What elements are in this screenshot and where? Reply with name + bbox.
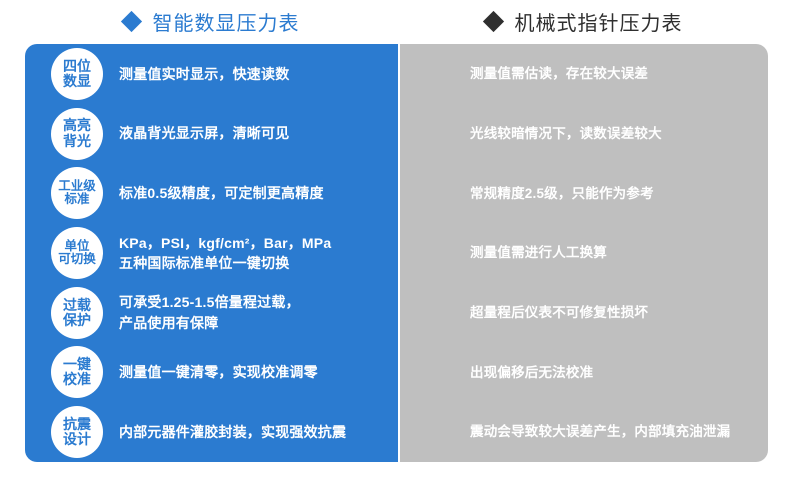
- feature-text: 测量值一键清零，实现校准调零: [119, 362, 318, 382]
- feature-badge: 单位 可切换: [51, 227, 103, 279]
- list-item: 测量值需估读，存在较大误差: [400, 44, 768, 104]
- badge-line-1: 单位: [64, 240, 89, 254]
- feature-text: 测量值实时显示，快速读数: [119, 64, 289, 84]
- list-item: 常规精度2.5级，只能作为参考: [400, 163, 768, 223]
- feature-badge: 高亮 背光: [51, 108, 103, 160]
- badge-line-2: 设计: [63, 432, 91, 447]
- badge-line-1: 高亮: [63, 118, 91, 133]
- header-right-title: 机械式指针压力表: [515, 7, 683, 36]
- left-feature-list: 四位 数显 测量值实时显示，快速读数 高亮 背光 液晶背光显示屏，清晰可见 工业…: [25, 44, 398, 462]
- drawback-text: 出现偏移后无法校准: [470, 363, 593, 383]
- headers-bar: 智能数显压力表 机械式指针压力表: [0, 0, 790, 42]
- diamond-icon: [120, 10, 141, 31]
- feature-text: 可承受1.25-1.5倍量程过载， 产品使用有保障: [119, 292, 300, 333]
- header-left-title: 智能数显压力表: [153, 7, 300, 36]
- list-item: 光线较暗情况下，读数误差较大: [400, 104, 768, 164]
- badge-line-1: 过载: [63, 298, 91, 313]
- feature-text-line-1: 测量值一键清零，实现校准调零: [119, 364, 318, 380]
- feature-badge: 抗震 设计: [51, 406, 103, 458]
- badge-line-2: 背光: [63, 134, 91, 149]
- list-item: 一键 校准 测量值一键清零，实现校准调零: [25, 343, 398, 403]
- list-item: 四位 数显 测量值实时显示，快速读数: [25, 44, 398, 104]
- feature-text-line-1: 测量值实时显示，快速读数: [119, 66, 289, 82]
- feature-badge: 过载 保护: [51, 287, 103, 339]
- header-left: 智能数显压力表: [25, 0, 398, 42]
- drawback-text: 测量值需进行人工换算: [470, 243, 607, 263]
- list-item: 测量值需进行人工换算: [400, 223, 768, 283]
- feature-text: 内部元器件灌胶封装，实现强效抗震: [119, 422, 346, 442]
- feature-text-line-1: 液晶背光显示屏，清晰可见: [119, 125, 289, 141]
- list-item: 超量程后仪表不可修复性损坏: [400, 283, 768, 343]
- list-item: 高亮 背光 液晶背光显示屏，清晰可见: [25, 104, 398, 164]
- list-item: 单位 可切换 KPa，PSI，kgf/cm²，Bar，MPa 五种国际标准单位一…: [25, 223, 398, 283]
- drawback-text: 震动会导致较大误差产生，内部填充油泄漏: [470, 422, 730, 442]
- list-item: 过载 保护 可承受1.25-1.5倍量程过载， 产品使用有保障: [25, 283, 398, 343]
- feature-text: KPa，PSI，kgf/cm²，Bar，MPa 五种国际标准单位一键切换: [119, 233, 331, 274]
- list-item: 震动会导致较大误差产生，内部填充油泄漏: [400, 402, 768, 462]
- badge-line-2: 数显: [63, 74, 91, 89]
- drawback-text: 超量程后仪表不可修复性损坏: [470, 303, 648, 323]
- drawback-text: 测量值需估读，存在较大误差: [470, 64, 648, 84]
- badge-line-2: 保护: [63, 313, 91, 328]
- diamond-icon: [482, 10, 503, 31]
- badge-line-1: 四位: [63, 59, 91, 74]
- feature-text: 标准0.5级精度，可定制更高精度: [119, 183, 324, 203]
- feature-text-line-1: 标准0.5级精度，可定制更高精度: [119, 185, 324, 201]
- right-drawback-list: 测量值需估读，存在较大误差 光线较暗情况下，读数误差较大 常规精度2.5级，只能…: [400, 44, 768, 462]
- feature-text-line-1: 可承受1.25-1.5倍量程过载，: [119, 294, 300, 310]
- badge-line-1: 抗震: [63, 417, 91, 432]
- feature-badge: 四位 数显: [51, 48, 103, 100]
- feature-text: 液晶背光显示屏，清晰可见: [119, 123, 289, 143]
- header-right: 机械式指针压力表: [400, 0, 768, 42]
- drawback-text: 常规精度2.5级，只能作为参考: [470, 184, 654, 204]
- feature-text-line-2: 产品使用有保障: [119, 313, 300, 333]
- feature-badge: 工业级 标准: [51, 167, 103, 219]
- comparison-page: 智能数显压力表 机械式指针压力表 四位 数显 测量值实时显示，快速读数 高亮 背…: [0, 0, 790, 482]
- drawback-text: 光线较暗情况下，读数误差较大: [470, 124, 662, 144]
- badge-line-2: 标准: [64, 193, 89, 207]
- feature-text-line-1: 内部元器件灌胶封装，实现强效抗震: [119, 424, 346, 440]
- list-item: 工业级 标准 标准0.5级精度，可定制更高精度: [25, 163, 398, 223]
- list-item: 抗震 设计 内部元器件灌胶封装，实现强效抗震: [25, 402, 398, 462]
- badge-line-1: 一键: [63, 357, 91, 372]
- feature-text-line-1: KPa，PSI，kgf/cm²，Bar，MPa: [119, 235, 331, 251]
- badge-line-2: 可切换: [58, 253, 96, 267]
- list-item: 出现偏移后无法校准: [400, 343, 768, 403]
- feature-badge: 一键 校准: [51, 346, 103, 398]
- badge-line-2: 校准: [63, 372, 91, 387]
- feature-text-line-2: 五种国际标准单位一键切换: [119, 253, 331, 273]
